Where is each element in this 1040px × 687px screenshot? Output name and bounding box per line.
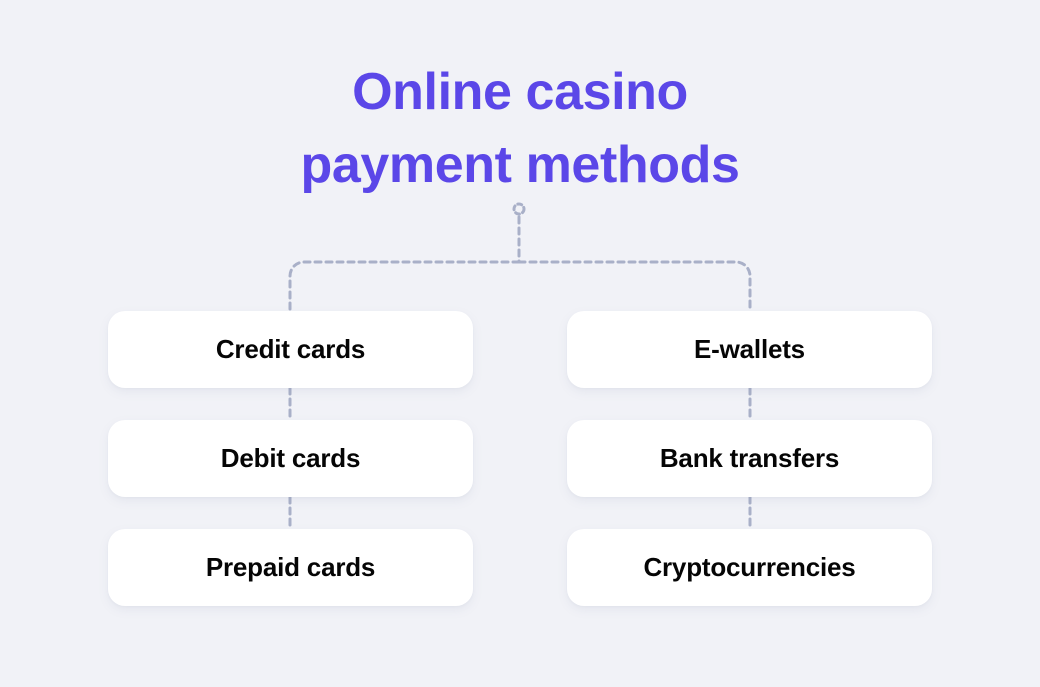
- card-debit-cards[interactable]: Debit cards: [108, 420, 473, 497]
- card-label: Credit cards: [216, 334, 365, 365]
- card-e-wallets[interactable]: E-wallets: [567, 311, 932, 388]
- card-label: Bank transfers: [660, 443, 839, 474]
- page-title-line-1: Online casino: [0, 56, 1040, 129]
- page-title-line-2: payment methods: [0, 129, 1040, 202]
- payment-methods-infographic: Online casino payment methods Credit car…: [0, 0, 1040, 687]
- page-title: Online casino payment methods: [0, 56, 1040, 202]
- card-cryptocurrencies[interactable]: Cryptocurrencies: [567, 529, 932, 606]
- card-prepaid-cards[interactable]: Prepaid cards: [108, 529, 473, 606]
- card-label: E-wallets: [694, 334, 805, 365]
- card-label: Cryptocurrencies: [643, 552, 855, 583]
- root-node-circle: [514, 204, 524, 214]
- card-label: Debit cards: [221, 443, 360, 474]
- bus-left: [290, 262, 519, 311]
- card-bank-transfers[interactable]: Bank transfers: [567, 420, 932, 497]
- card-credit-cards[interactable]: Credit cards: [108, 311, 473, 388]
- bus-right: [519, 262, 750, 311]
- card-label: Prepaid cards: [206, 552, 375, 583]
